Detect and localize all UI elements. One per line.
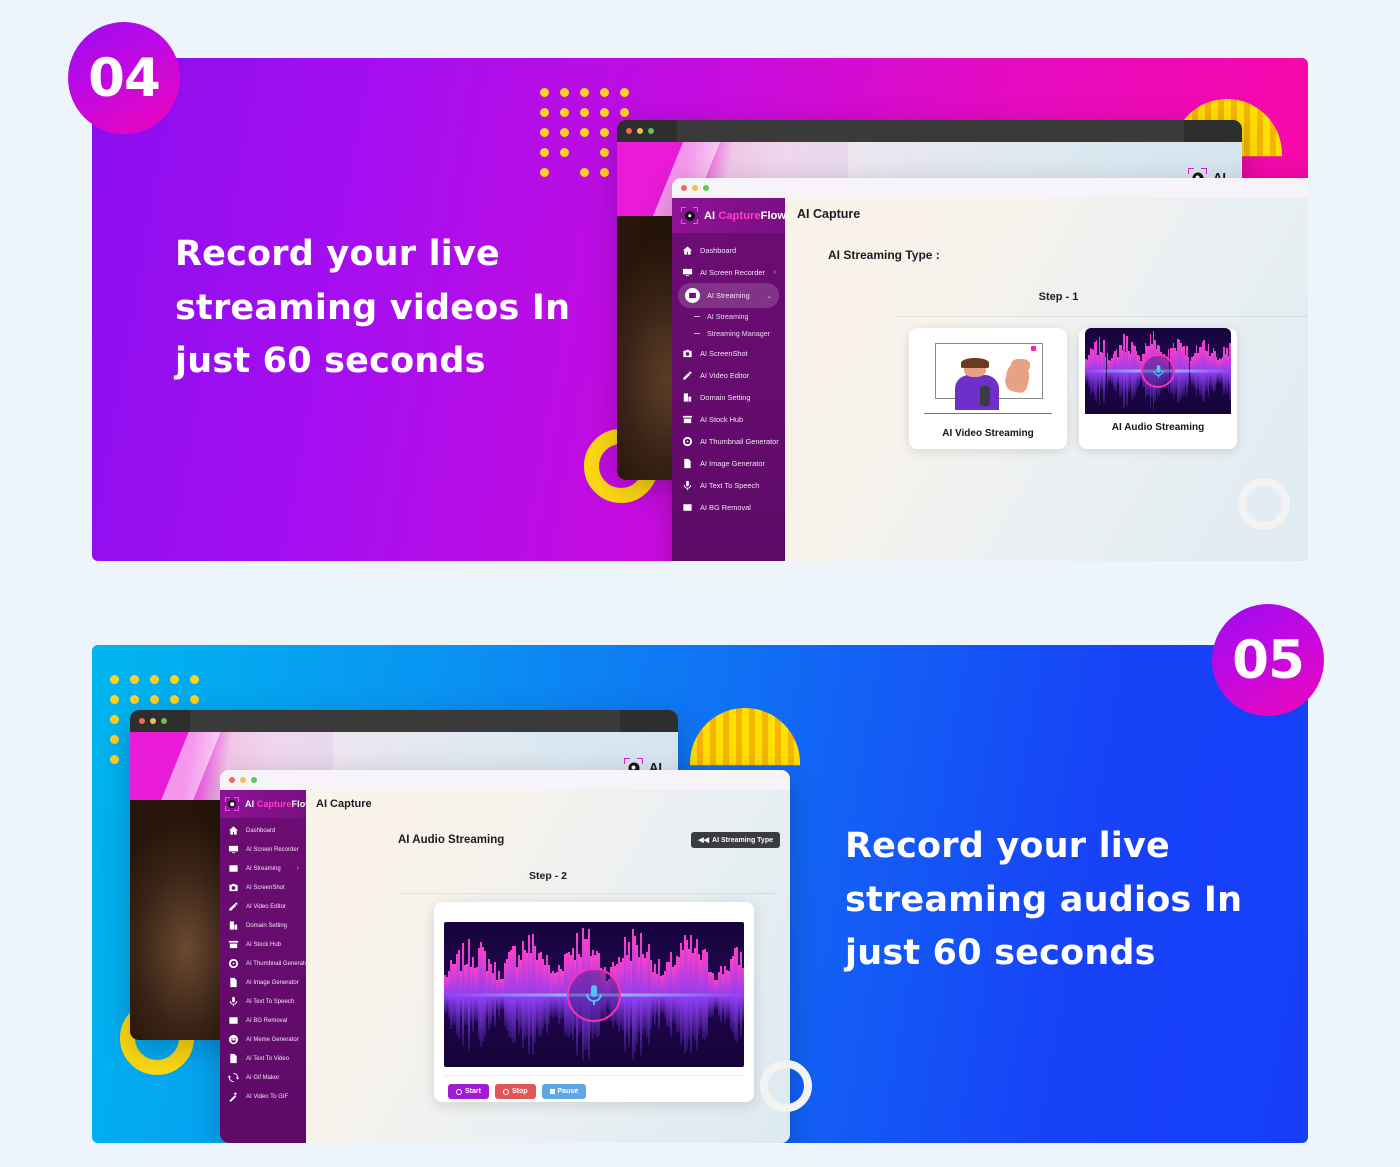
sidebar-item-ai-text-to-speech[interactable]: AI Text To Speech [672,474,785,496]
sidebar-label: Dashboard [246,828,275,834]
close-dot[interactable] [229,777,235,783]
chevron-right-icon: › [774,269,776,276]
sidebar-subitem-ai-streaming[interactable]: AI Streaming [672,308,785,325]
pause-square-icon [550,1089,555,1094]
floor-line [924,413,1052,414]
dot-decor [110,675,119,684]
person-body [955,375,999,410]
dot-decor [170,675,179,684]
close-dot[interactable] [139,718,145,724]
building-icon [227,920,239,932]
dot-decor [130,695,139,704]
player-controls: Start Stop Pause [448,1084,586,1099]
app-titlebar [672,178,1308,198]
logo-ai: AI [245,799,257,809]
dot-decor [600,88,609,97]
building-icon [681,391,693,403]
browser-tab-strip[interactable] [677,120,1184,142]
section-number: 04 [88,48,160,109]
dot-decor [110,695,119,704]
sidebar-label: AI Text To Speech [700,481,759,490]
sidebar-label: AI Thumbnail Generator [246,961,310,967]
sidebar-label: AI Video Editor [246,904,286,910]
traffic-lights[interactable] [626,128,654,134]
sidebar-item-ai-streaming[interactable]: AI Streaming ⌄ [678,283,779,308]
sidebar-label: AI Screen Recorder [246,847,299,853]
sidebar-label: AI Meme Generator [246,1037,299,1043]
sidebar-label: AI Streaming [246,866,281,872]
sidebar-label: Domain Setting [246,923,287,929]
sidebar-item-ai-bg-removal[interactable]: AI BG Removal [220,1011,306,1030]
card-ai-audio-streaming[interactable]: AI Audio Streaming [1079,328,1237,449]
audio-waveform-display [444,922,744,1067]
app-layout: AI CaptureFlow Dashboard AI Screen Recor… [672,198,1308,561]
dot-decor [560,148,569,157]
sidebar-label: Dashboard [700,246,736,255]
dot-decor [540,128,549,137]
sidebar-item-domain-setting[interactable]: Domain Setting [220,916,306,935]
image-file-icon [681,457,693,469]
sidebar-item-ai-streaming[interactable]: AI Streaming › [220,859,306,878]
app-traffic-lights[interactable] [229,777,257,783]
sidebar-item-dashboard[interactable]: Dashboard [220,821,306,840]
dot-decor [580,108,589,117]
dot-decor [560,88,569,97]
page-title: AI Capture [316,798,372,810]
sidebar-label: AI Text To Speech [246,999,294,1005]
dot-decor [110,755,119,764]
person-hair [961,358,988,368]
logo-capture: Capture [718,210,760,222]
white-ring-decor [1238,478,1290,530]
archive-icon [227,939,239,951]
dot-decor [600,148,609,157]
pause-label: Pause [558,1088,579,1095]
sidebar-item-ai-stock-hub[interactable]: AI Stock Hub [672,408,785,430]
target-icon [227,958,239,970]
sidebar-label: AI Video Editor [700,371,749,380]
sidebar-label: AI Thumbnail Generator [700,437,779,446]
app-logo-text: AI CaptureFlow [245,799,312,809]
sidebar-item-ai-image-generator[interactable]: AI Image Generator [672,452,785,474]
microphone-icon [1151,364,1166,379]
broadcast-icon [685,288,700,303]
sidebar-item-ai-thumbnail-generator[interactable]: AI Thumbnail Generator [220,954,306,973]
dot-decor [110,715,119,724]
minimize-dot[interactable] [692,185,698,191]
sidebar-label: AI Text To Video [246,1056,289,1062]
maximize-dot[interactable] [161,718,167,724]
app-window-05[interactable]: AI CaptureFlow Dashboard AI Screen Recor… [220,770,790,1143]
sidebar-label: AI Streaming [707,291,750,300]
dot-decor [580,128,589,137]
white-ring-decor [760,1060,812,1112]
microphone-prop [980,386,990,406]
step-label: Step - 1 [785,291,1308,303]
section-headline-04: Record your live streaming videos In jus… [175,228,575,389]
browser-titlebar [130,710,678,732]
browser-tab-strip[interactable] [190,710,620,732]
sidebar-item-ai-screenshot[interactable]: AI ScreenShot [220,878,306,897]
sidebar-item-ai-video-to-gif[interactable]: AI Video To GIF [220,1087,306,1106]
sidebar-label: AI Stock Hub [700,415,743,424]
sidebar-item-ai-gif-maker[interactable]: AI Gif Maker [220,1068,306,1087]
monitor-icon [227,844,239,856]
dot-decor [150,695,159,704]
app-titlebar [220,770,790,790]
sidebar-label: AI Image Generator [700,459,765,468]
archive-icon [681,413,693,425]
browser-titlebar [617,120,1242,142]
sidebar-nav-list: Dashboard AI Screen Recorder › AI Stream… [672,233,785,518]
dot-decor [190,675,199,684]
app-content-05: AI Capture AI Audio Streaming ◀◀ AI Stre… [306,790,790,1143]
logo-ai: AI [704,210,718,222]
dot-decor [560,128,569,137]
dot-decor [540,168,549,177]
sidebar-label: AI BG Removal [700,503,751,512]
back-button-label: AI Streaming Type [712,837,773,844]
step-label: Step - 2 [306,870,790,882]
minimize-dot[interactable] [150,718,156,724]
camera-icon [681,347,693,359]
section-heading: AI Streaming Type : [828,248,940,262]
chevron-down-icon: ⌄ [766,292,772,300]
rewind-icon: ◀◀ [698,836,709,844]
section-number-badge-05: 05 [1212,604,1324,716]
back-to-streaming-type-button[interactable]: ◀◀ AI Streaming Type [691,832,780,848]
content-divider [895,316,1308,317]
monitor-icon [681,266,693,278]
sidebar-item-ai-screen-recorder[interactable]: AI Screen Recorder › [672,261,785,283]
section-heading: AI Audio Streaming [398,834,504,846]
home-icon [681,244,693,256]
minimize-dot[interactable] [637,128,643,134]
refresh-icon [227,1072,239,1084]
home-icon [227,825,239,837]
sidebar-item-ai-video-editor[interactable]: AI Video Editor [220,897,306,916]
streaming-type-cards: AI Video Streaming AI [909,328,1237,449]
app-content-04: AI Capture AI Streaming Type : Step - 1 [785,198,1308,561]
dot-decor [560,108,569,117]
logo-mark-icon [225,797,239,811]
dot-decor [580,88,589,97]
sidebar-label: AI Screen Recorder [700,268,765,277]
sidebar-item-ai-screen-recorder[interactable]: AI Screen Recorder › [220,840,306,859]
sidebar-item-ai-screenshot[interactable]: AI ScreenShot [672,342,785,364]
content-divider [398,893,778,894]
app-logo-text: AI CaptureFlow [704,210,786,222]
infographic-page: AI [0,0,1400,1167]
start-button[interactable]: Start [448,1084,489,1099]
maximize-dot[interactable] [251,777,257,783]
camera-icon [227,882,239,894]
card-label: AI Video Streaming [942,420,1034,449]
minimize-dot[interactable] [240,777,246,783]
person-hand [1011,359,1031,372]
sidebar-label: AI Video To GIF [246,1094,288,1100]
dot-decor [580,168,589,177]
sidebar-label: AI Stock Hub [246,942,281,948]
logo-capture: Capture [257,799,292,809]
app-layout: AI CaptureFlow Dashboard AI Screen Recor… [220,790,790,1143]
close-dot[interactable] [626,128,632,134]
close-dot[interactable] [681,185,687,191]
image-file-icon [227,977,239,989]
app-traffic-lights[interactable] [681,185,709,191]
dot-decor [110,735,119,744]
app-logo[interactable]: AI CaptureFlow [220,790,306,818]
video-streaming-thumbnail [915,334,1061,420]
sidebar-label: Domain Setting [700,393,751,402]
microphone-icon [582,983,606,1007]
pencil-icon [681,369,693,381]
page-title: AI Capture [797,207,860,221]
sidebar-item-ai-text-to-video[interactable]: AI Text To Video [220,1049,306,1068]
dash-icon [694,333,700,334]
dot-decor [600,168,609,177]
sidebar-sub-label: AI Streaming [707,312,749,321]
play-circle-icon [456,1089,462,1095]
microphone-icon [681,479,693,491]
photo-icon [681,501,693,513]
app-logo[interactable]: AI CaptureFlow [672,198,785,233]
pencil-icon [227,901,239,913]
dot-decor [540,148,549,157]
sidebar-subitem-streaming-manager[interactable]: Streaming Manager [672,325,785,342]
card-label: AI Audio Streaming [1112,414,1204,443]
text-file-icon [227,1053,239,1065]
dot-decor [190,695,199,704]
dash-icon [694,316,700,317]
section-headline-05: Record your live streaming audios In jus… [845,820,1245,981]
smile-icon [227,1034,239,1046]
dot-decor [540,88,549,97]
pause-button[interactable]: Pause [542,1084,587,1099]
sidebar-item-ai-meme-generator[interactable]: AI Meme Generator [220,1030,306,1049]
photo-icon [227,1015,239,1027]
sidebar-item-ai-text-to-speech[interactable]: AI Text To Speech [220,992,306,1011]
app-sidebar-04[interactable]: AI CaptureFlow Dashboard AI Screen Recor… [672,198,785,561]
player-divider [444,1075,744,1076]
dot-decor [600,128,609,137]
person-illustration [950,360,1026,410]
dot-decor [540,108,549,117]
dot-decor [150,675,159,684]
microphone-badge [1141,354,1175,388]
chevron-right-icon: › [297,865,299,872]
sidebar-item-ai-bg-removal[interactable]: AI BG Removal [672,496,785,518]
logo-mark-icon [681,207,698,224]
record-dot-icon [1031,346,1036,351]
audio-player-card: Start Stop Pause [434,902,754,1102]
dot-decor [620,108,629,117]
stop-circle-icon [503,1089,509,1095]
wand-icon [227,1091,239,1103]
dot-decor [170,695,179,704]
app-sidebar-05[interactable]: AI CaptureFlow Dashboard AI Screen Recor… [220,790,306,1143]
traffic-lights[interactable] [139,718,167,724]
sidebar-label: AI ScreenShot [246,885,285,891]
start-label: Start [465,1088,481,1095]
sidebar-item-ai-image-generator[interactable]: AI Image Generator [220,973,306,992]
sidebar-item-ai-video-editor[interactable]: AI Video Editor [672,364,785,386]
section-number-badge-04: 04 [68,22,180,134]
sidebar-item-dashboard[interactable]: Dashboard [672,239,785,261]
microphone-icon [227,996,239,1008]
sidebar-label: AI Image Generator [246,980,299,986]
card-ai-video-streaming[interactable]: AI Video Streaming [909,328,1067,449]
logo-flow: Flow [761,210,786,222]
broadcast-icon [227,863,239,875]
sidebar-item-ai-thumbnail-generator[interactable]: AI Thumbnail Generator [672,430,785,452]
maximize-dot[interactable] [648,128,654,134]
app-window-04[interactable]: AI CaptureFlow Dashboard AI Screen Recor… [672,178,1308,561]
stop-label: Stop [512,1088,528,1095]
maximize-dot[interactable] [703,185,709,191]
dot-decor [620,88,629,97]
dot-decor [600,108,609,117]
microphone-badge [567,968,621,1022]
sidebar-nav-list: Dashboard AI Screen Recorder › AI Stream… [220,818,306,1106]
sidebar-label: AI Gif Maker [246,1075,279,1081]
sidebar-label: AI BG Removal [246,1018,287,1024]
target-icon [681,435,693,447]
sidebar-label: AI ScreenShot [700,349,748,358]
sidebar-item-domain-setting[interactable]: Domain Setting [672,386,785,408]
dot-decor [130,675,139,684]
audio-streaming-thumbnail [1085,328,1231,414]
section-number: 05 [1232,630,1304,691]
sidebar-item-ai-stock-hub[interactable]: AI Stock Hub [220,935,306,954]
sidebar-sub-label: Streaming Manager [707,329,770,338]
stop-button[interactable]: Stop [495,1084,536,1099]
